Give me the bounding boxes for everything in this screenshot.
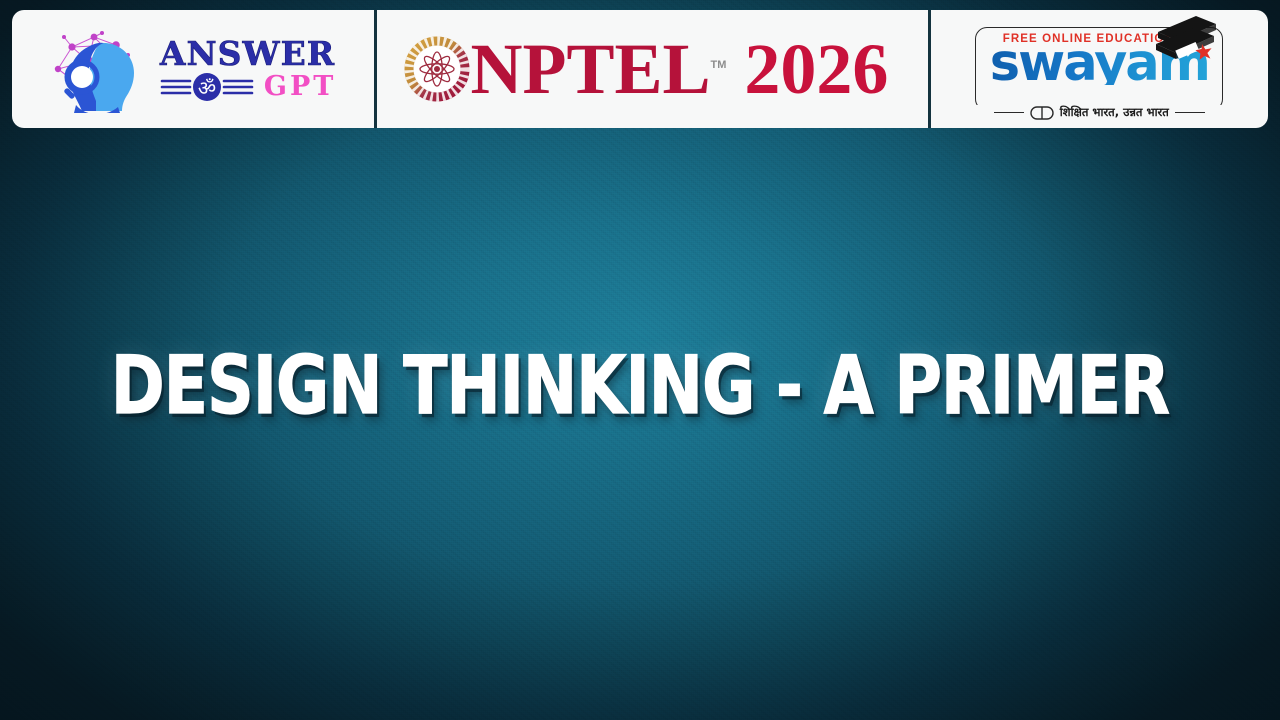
gpt-text: GPT <box>264 73 336 100</box>
brain-head-network-icon <box>42 25 150 113</box>
answergpt-logo-panel: ANSWER <box>12 10 374 128</box>
nptel-wheel-emblem-icon <box>400 32 474 106</box>
svg-text:ॐ: ॐ <box>198 76 216 100</box>
nptel-text: NPTEL <box>470 29 710 109</box>
nptel-logo: NPTELTM 2026 <box>400 32 888 106</box>
swayam-tagline-row: शिक्षित भारत, उन्नत भारत <box>976 105 1222 120</box>
trademark-mark: TM <box>711 59 727 71</box>
nptel-year: 2026 <box>744 33 888 105</box>
logo-header-bar: ANSWER <box>12 10 1268 128</box>
nptel-logo-panel: NPTELTM 2026 <box>377 10 927 128</box>
computer-mouse-icon <box>1030 106 1054 120</box>
stacked-books-icon <box>1146 14 1218 66</box>
answer-text: ANSWER <box>160 37 336 70</box>
swayam-logo: FREE ONLINE EDUCATION swayam शिक्षित भार… <box>975 27 1223 111</box>
answergpt-logo: ANSWER <box>42 25 336 113</box>
tagline-rule-right <box>1175 112 1205 113</box>
slide-title: DESIGN THINKING - A PRIMER <box>64 346 1216 426</box>
swayam-tagline: शिक्षित भारत, उन्नत भारत <box>1060 105 1169 120</box>
swayam-logo-panel: FREE ONLINE EDUCATION swayam शिक्षित भार… <box>931 10 1268 128</box>
om-symbol-icon: ॐ <box>160 72 260 102</box>
nptel-wordmark: NPTELTM <box>470 33 726 105</box>
slide-canvas: ANSWER <box>0 0 1280 720</box>
answergpt-wordmark: ANSWER <box>160 37 336 102</box>
tagline-rule-left <box>994 112 1024 113</box>
